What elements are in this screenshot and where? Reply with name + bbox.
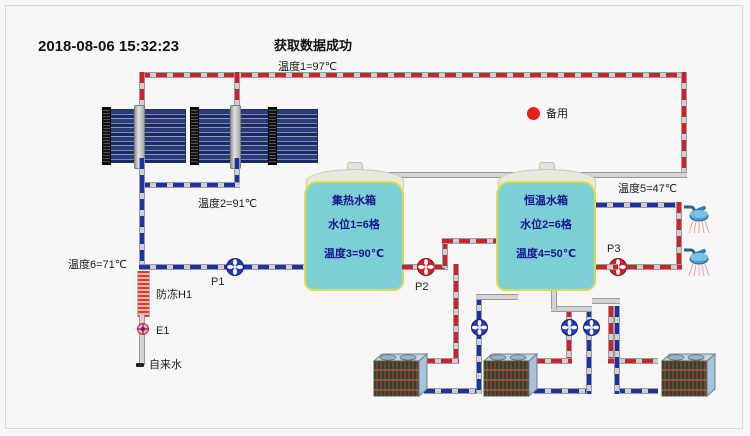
heat-pump-1[interactable] [370, 349, 428, 399]
tank2-hp2-header [551, 306, 592, 312]
hp2-cold-branch [534, 388, 592, 394]
solar-collector-1 [106, 109, 186, 163]
water-supply-label: 自来水 [149, 360, 182, 371]
shower-head-2-icon [682, 245, 716, 279]
tank1-name: 集热水箱 [306, 192, 402, 208]
solar-collector-3-endcap [268, 107, 277, 165]
solar-collector-3 [238, 109, 318, 163]
tank2-hp2-drop [551, 291, 557, 309]
antifreeze-heater-icon [137, 271, 150, 317]
pump-p2-label: P2 [415, 282, 428, 293]
standby-label: 备用 [546, 109, 568, 120]
tank2-name: 恒温水箱 [498, 192, 594, 208]
branch-valve-2-icon[interactable] [560, 318, 579, 337]
branch-valve-1-icon[interactable] [470, 318, 489, 337]
hp1-cold-branch [424, 388, 482, 394]
standby-indicator-icon [527, 107, 540, 120]
solar-hot-downcomer [681, 72, 687, 172]
diagram-frame: 2018-08-06 15:32:23 获取数据成功 温度1=97℃ 备用 温度… [5, 5, 743, 429]
heat-pump-2[interactable] [480, 349, 538, 399]
pump-p1-icon[interactable] [225, 257, 245, 277]
heat-pump-3[interactable] [658, 349, 716, 399]
tank2-hp3-header [592, 298, 620, 304]
pump-p2-icon[interactable] [416, 257, 436, 277]
tank2-hp-return-pipe [476, 294, 518, 300]
solenoid-valve-e1-icon[interactable] [136, 322, 150, 336]
branch-valve-3-icon[interactable] [582, 318, 601, 337]
status-message: 获取数据成功 [274, 39, 352, 52]
timestamp-label: 2018-08-06 15:32:23 [38, 39, 179, 54]
tank1-temp: 温度3=90℃ [306, 245, 402, 261]
temp5-label: 温度5=47℃ [618, 184, 677, 195]
shower-head-1-icon [682, 202, 716, 236]
tank2-level: 水位2=6格 [498, 216, 594, 232]
antifreeze-heater-label: 防冻H1 [156, 290, 192, 301]
pump-p3-label: P3 [607, 244, 620, 255]
hp3-cold-branch [614, 388, 658, 394]
tank2-shower-outlet-pipe [596, 264, 618, 270]
solenoid-valve-label: E1 [156, 326, 169, 337]
tank1-level: 水位1=6格 [306, 216, 402, 232]
hp-hot-header-left [453, 264, 459, 364]
solar-collector-2-endcap [190, 107, 199, 165]
solar-hot-header-pipe [139, 72, 687, 78]
shower-supply-top-pipe [596, 202, 682, 208]
temp6-label: 温度6=71℃ [68, 260, 127, 271]
water-supply-terminal-icon [136, 363, 144, 367]
tank2-temp: 温度4=50℃ [498, 245, 594, 261]
hp3-cold-riser [614, 306, 620, 394]
hp2-hot-branch [534, 358, 572, 364]
tank-2[interactable]: 恒温水箱 水位2=6格 温度4=50℃ [496, 181, 596, 291]
temp2-label: 温度2=91℃ [198, 199, 257, 210]
solar-collector-1-endcap [102, 107, 111, 165]
hp1-hot-branch [424, 358, 459, 364]
solar-cold-header-pipe [139, 182, 240, 188]
shower-return-pipe [626, 264, 682, 270]
cold-feed-riser [139, 182, 145, 264]
pump-p1-label: P1 [211, 277, 224, 288]
tank-1[interactable]: 集热水箱 水位1=6格 温度3=90℃ [304, 181, 404, 291]
scada-diagram: 2018-08-06 15:32:23 获取数据成功 温度1=97℃ 备用 温度… [0, 0, 750, 436]
